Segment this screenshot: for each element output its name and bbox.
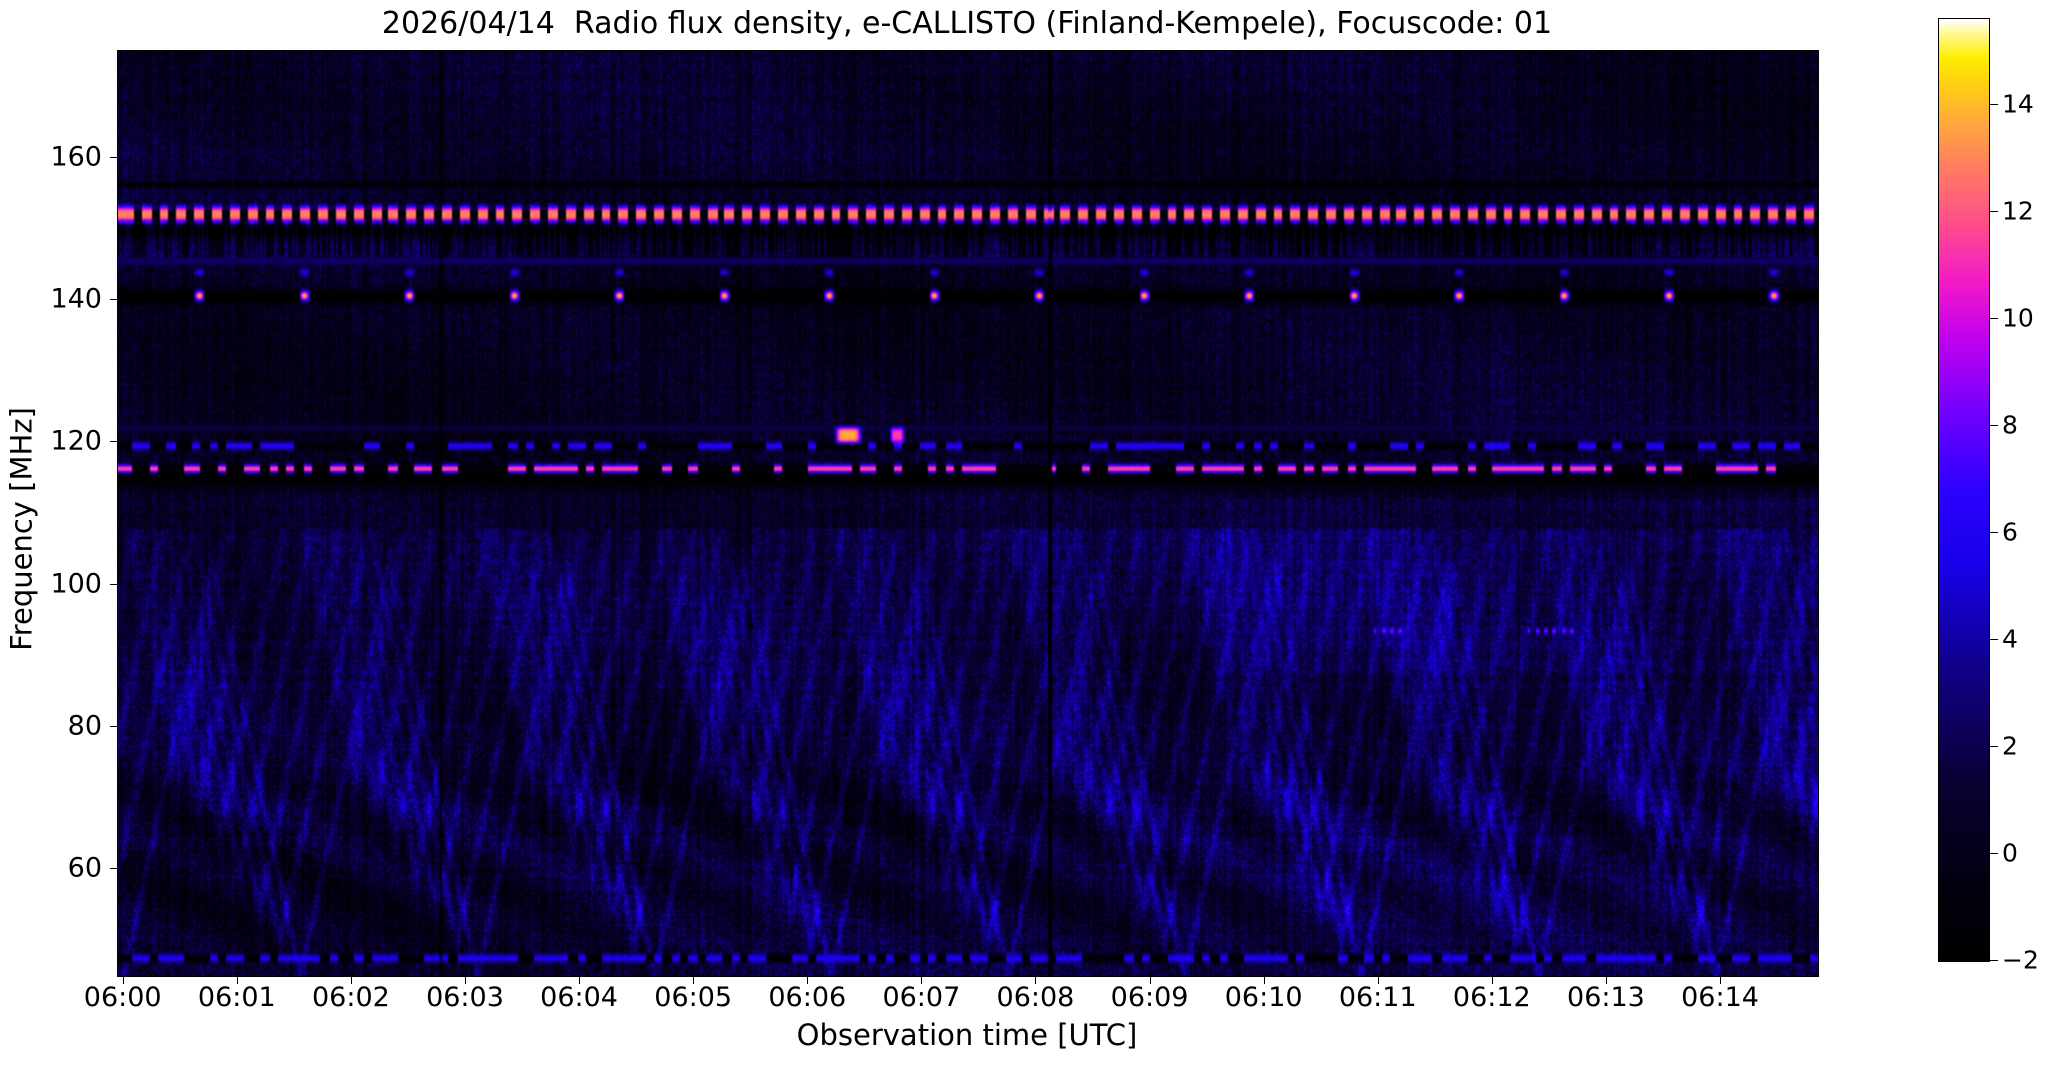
colorbar[interactable] xyxy=(1938,18,1990,962)
colorbar-tick-label: 14 xyxy=(2002,89,2034,118)
colorbar-tick-label: 2 xyxy=(2002,731,2018,760)
y-tick-mark xyxy=(110,299,118,300)
x-tick-label: 06:00 xyxy=(84,982,162,1013)
x-tick-label: 06:10 xyxy=(1225,982,1303,1013)
x-tick-label: 06:12 xyxy=(1453,982,1531,1013)
y-tick-label: 120 xyxy=(50,426,102,457)
y-tick-label: 140 xyxy=(50,284,102,315)
colorbar-tick-label: −2 xyxy=(2002,946,2039,975)
colorbar-gradient xyxy=(1939,19,1989,961)
colorbar-tick-mark xyxy=(1990,211,1998,212)
colorbar-tick-mark xyxy=(1990,104,1998,105)
x-tick-label: 06:02 xyxy=(312,982,390,1013)
y-tick-mark xyxy=(110,584,118,585)
colorbar-tick-label: 8 xyxy=(2002,410,2018,439)
colorbar-tick-mark xyxy=(1990,318,1998,319)
colorbar-tick-label: 10 xyxy=(2002,303,2034,332)
colorbar-tick-mark xyxy=(1990,532,1998,533)
colorbar-tick-label: 12 xyxy=(2002,196,2034,225)
x-tick-label: 06:14 xyxy=(1681,982,1759,1013)
y-tick-label: 160 xyxy=(50,141,102,172)
y-tick-mark xyxy=(110,868,118,869)
colorbar-tick-label: 6 xyxy=(2002,517,2018,546)
y-tick-label: 100 xyxy=(50,568,102,599)
y-tick-mark xyxy=(110,157,118,158)
spectrogram-image[interactable] xyxy=(118,51,1818,976)
y-tick-label: 80 xyxy=(68,710,102,741)
colorbar-tick-mark xyxy=(1990,425,1998,426)
x-tick-label: 06:13 xyxy=(1567,982,1645,1013)
y-tick-mark xyxy=(110,441,118,442)
x-axis-label: Observation time [UTC] xyxy=(117,1018,1817,1052)
x-tick-label: 06:05 xyxy=(654,982,732,1013)
spectrogram-axes[interactable] xyxy=(117,50,1819,977)
x-tick-label: 06:11 xyxy=(1339,982,1417,1013)
page-title: 2026/04/14 Radio flux density, e-CALLIST… xyxy=(117,4,1817,44)
y-axis-label: Frequency [MHz] xyxy=(5,67,39,992)
colorbar-tick-label: 4 xyxy=(2002,624,2018,653)
spectrogram-figure: 2026/04/14 Radio flux density, e-CALLIST… xyxy=(0,0,2066,1067)
y-tick-label: 60 xyxy=(68,853,102,884)
x-tick-label: 06:08 xyxy=(997,982,1075,1013)
y-tick-mark xyxy=(110,726,118,727)
colorbar-tick-label: 0 xyxy=(2002,838,2018,867)
colorbar-tick-mark xyxy=(1990,853,1998,854)
colorbar-tick-mark xyxy=(1990,746,1998,747)
colorbar-tick-mark xyxy=(1990,960,1998,961)
x-tick-label: 06:03 xyxy=(426,982,504,1013)
x-tick-label: 06:01 xyxy=(198,982,276,1013)
x-tick-label: 06:04 xyxy=(540,982,618,1013)
x-tick-label: 06:09 xyxy=(1111,982,1189,1013)
x-tick-label: 06:07 xyxy=(882,982,960,1013)
x-tick-label: 06:06 xyxy=(768,982,846,1013)
colorbar-tick-mark xyxy=(1990,639,1998,640)
